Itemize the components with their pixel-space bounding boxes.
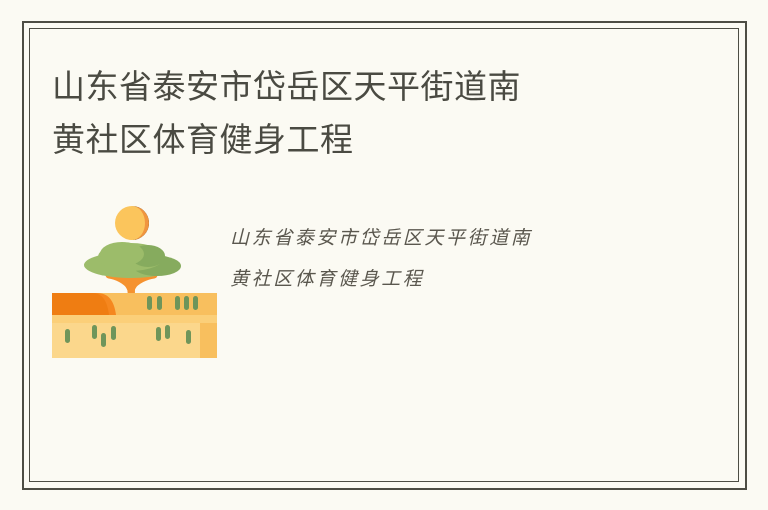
- title-line-1: 山东省泰安市岱岳区天平街道南: [52, 60, 672, 113]
- title-line-2: 黄社区体育健身工程: [52, 113, 672, 166]
- ground-layers: [52, 293, 217, 358]
- savanna-icon: [52, 196, 217, 366]
- page-title: 山东省泰安市岱岳区天平街道南 黄社区体育健身工程: [52, 60, 672, 166]
- caption-line-1: 山东省泰安市岱岳区天平街道南: [230, 218, 700, 259]
- poster-page: 山东省泰安市岱岳区天平街道南 黄社区体育健身工程: [0, 0, 768, 510]
- savanna-scene-illustration: [52, 196, 217, 366]
- caption-line-2: 黄社区体育健身工程: [230, 259, 700, 300]
- content-row: 山东省泰安市岱岳区天平街道南 黄社区体育健身工程: [52, 196, 712, 376]
- sun-icon: [115, 206, 149, 240]
- caption-text: 山东省泰安市岱岳区天平街道南 黄社区体育健身工程: [230, 218, 700, 300]
